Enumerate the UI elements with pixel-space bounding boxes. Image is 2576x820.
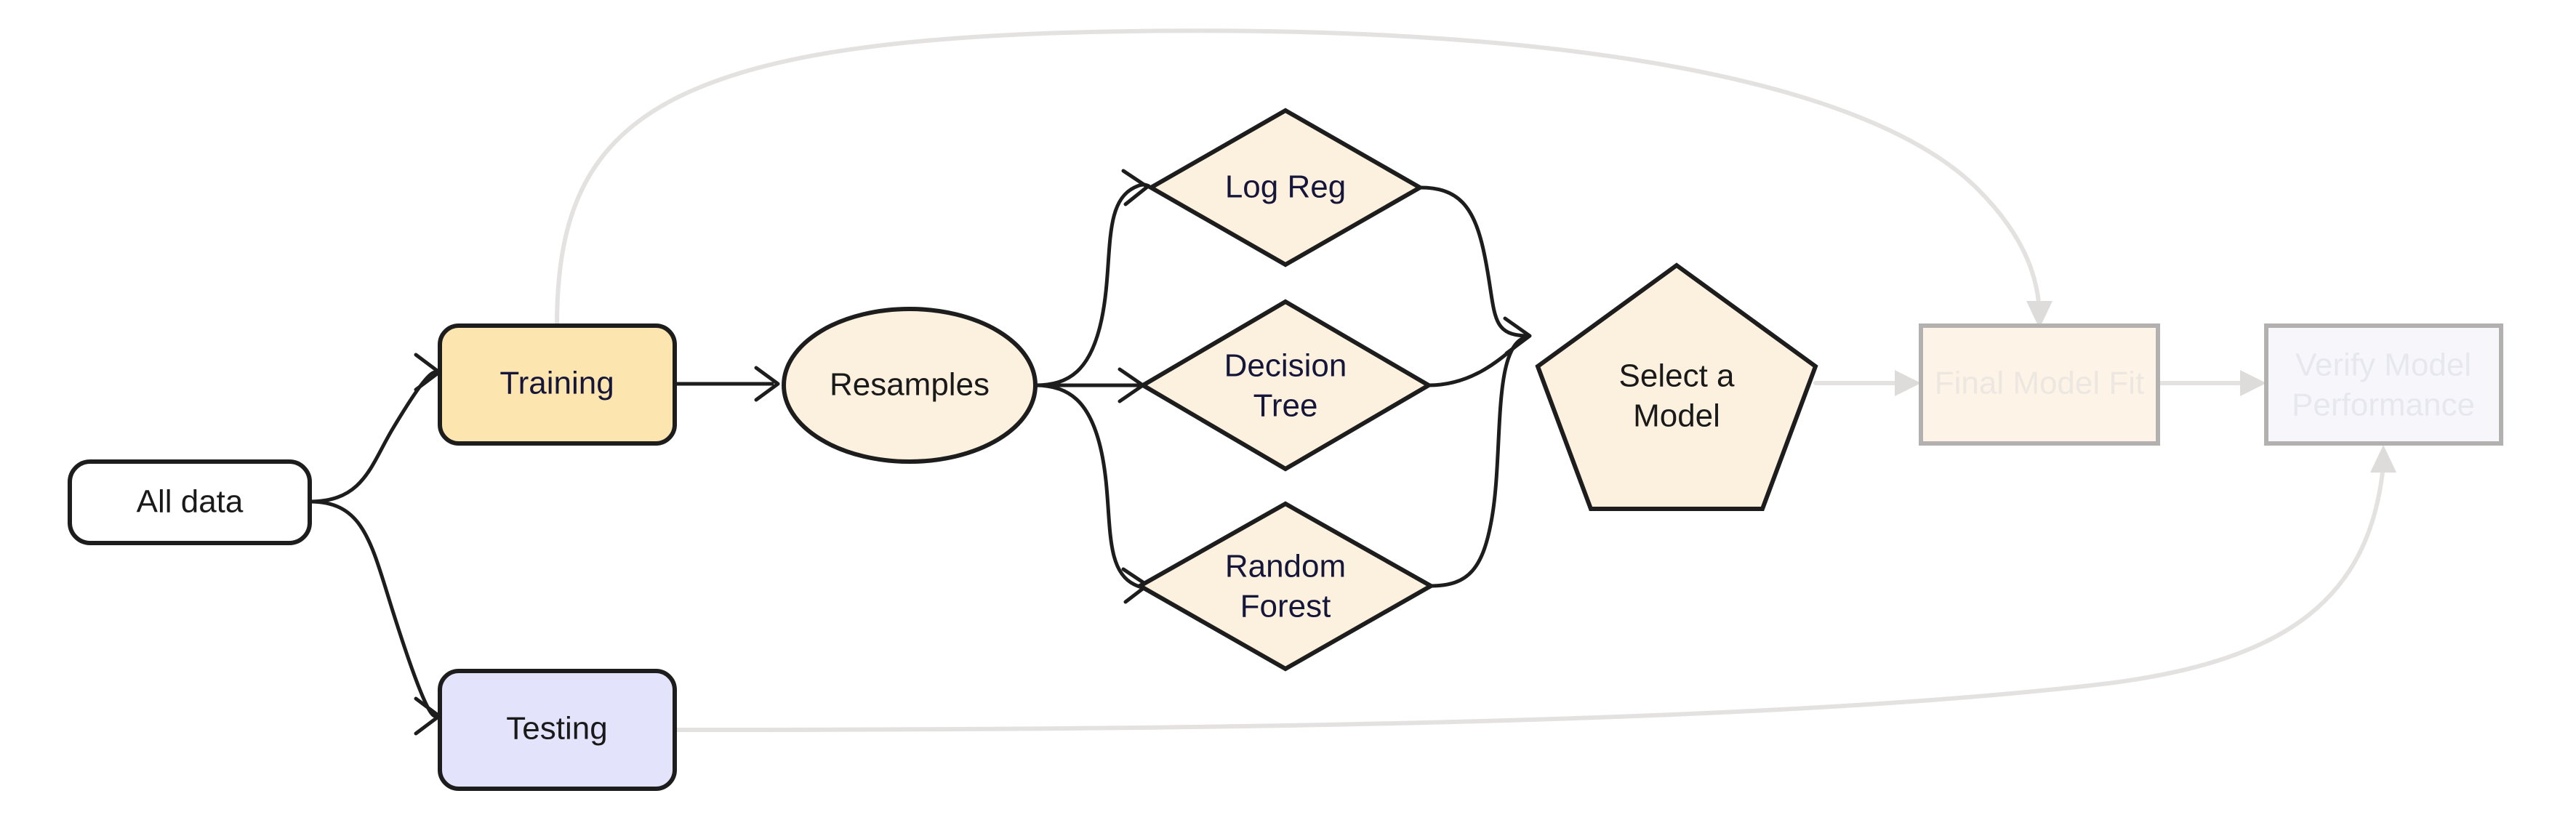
- decision-tree-label-line1: Decision: [1224, 348, 1347, 384]
- node-random-forest[interactable]: Random Forest: [1140, 504, 1431, 669]
- edge-all-data-to-testing: [310, 502, 439, 733]
- decision-tree-label-line2: Tree: [1253, 388, 1318, 424]
- node-select-a-model[interactable]: Select a Model: [1538, 265, 1815, 509]
- verify-model-performance-shape[interactable]: [2266, 326, 2501, 443]
- edge-testing-to-verify-model-performance: [675, 445, 2396, 730]
- edge-resamples-to-log-reg: [1035, 171, 1149, 385]
- random-forest-shape[interactable]: [1140, 504, 1431, 669]
- verify-model-performance-label-line1: Verify Model: [2295, 347, 2471, 383]
- select-a-model-label-line2: Model: [1633, 398, 1720, 434]
- edge-training-to-resamples: [675, 368, 778, 400]
- node-testing[interactable]: Testing: [440, 671, 675, 789]
- edge-final-model-fit-to-verify-model-performance: [2158, 370, 2266, 396]
- select-a-model-label-line1: Select a: [1619, 358, 1736, 394]
- node-decision-tree[interactable]: Decision Tree: [1143, 302, 1429, 469]
- decision-tree-shape[interactable]: [1143, 302, 1429, 469]
- flowchart-svg: Final Model Fit Verify Model Performance…: [0, 0, 2576, 820]
- node-log-reg[interactable]: Log Reg: [1151, 110, 1420, 265]
- node-resamples[interactable]: Resamples: [784, 309, 1035, 462]
- edge-log-reg-to-select-a-model: [1420, 188, 1530, 353]
- training-label: Training: [499, 366, 614, 401]
- random-forest-label-line1: Random: [1225, 549, 1346, 584]
- verify-model-performance-label-line2: Performance: [2292, 387, 2475, 423]
- testing-label: Testing: [506, 711, 607, 747]
- random-forest-label-line2: Forest: [1240, 589, 1331, 624]
- edge-resamples-to-random-forest: [1035, 385, 1149, 602]
- node-final-model-fit[interactable]: Final Model Fit: [1921, 326, 2158, 443]
- node-training[interactable]: Training: [440, 326, 675, 443]
- edge-select-a-model-to-final-model-fit: [1815, 370, 1921, 396]
- final-model-fit-label: Final Model Fit: [1935, 366, 2145, 401]
- diagram-canvas: Final Model Fit Verify Model Performance…: [0, 0, 2576, 820]
- edge-decision-tree-to-select-a-model: [1429, 337, 1525, 385]
- resamples-label: Resamples: [830, 367, 990, 403]
- node-verify-model-performance[interactable]: Verify Model Performance: [2266, 326, 2501, 443]
- edge-all-data-to-training: [310, 355, 439, 502]
- node-all-data[interactable]: All data: [70, 462, 310, 543]
- log-reg-label: Log Reg: [1225, 169, 1346, 205]
- all-data-label: All data: [137, 484, 244, 520]
